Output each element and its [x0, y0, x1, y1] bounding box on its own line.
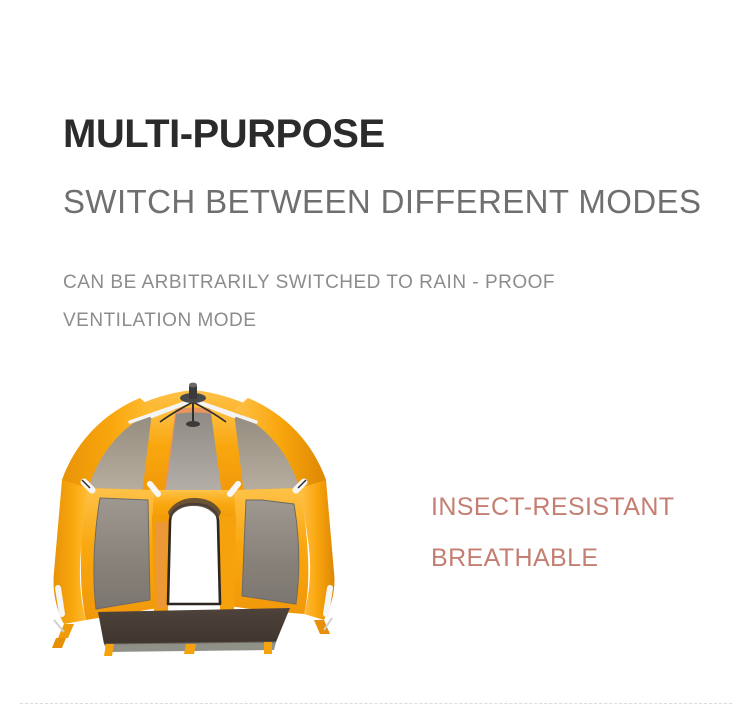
tent-left-wall	[53, 480, 158, 624]
product-detail-page: MULTI-PURPOSE SWITCH BETWEEN DIFFERENT M…	[0, 0, 750, 718]
description-text: CAN BE ARBITRARILY SWITCHED TO RAIN - PR…	[63, 264, 623, 340]
section-divider	[20, 703, 732, 704]
description-line-1: CAN BE ARBITRARILY SWITCHED TO RAIN - PR…	[63, 264, 623, 302]
page-title: MULTI-PURPOSE	[63, 113, 385, 155]
feature-callout: INSECT-RESISTANT BREATHABLE	[431, 482, 674, 585]
tent-door	[152, 490, 236, 616]
description-line-2: VENTILATION MODE	[63, 302, 623, 340]
tent-product-photo	[18, 376, 368, 668]
feature-callout-line-2: BREATHABLE	[431, 533, 674, 584]
page-subtitle: SWITCH BETWEEN DIFFERENT MODES	[63, 182, 701, 222]
feature-callout-line-1: INSECT-RESISTANT	[431, 482, 674, 533]
tent-right-wall	[230, 480, 335, 620]
